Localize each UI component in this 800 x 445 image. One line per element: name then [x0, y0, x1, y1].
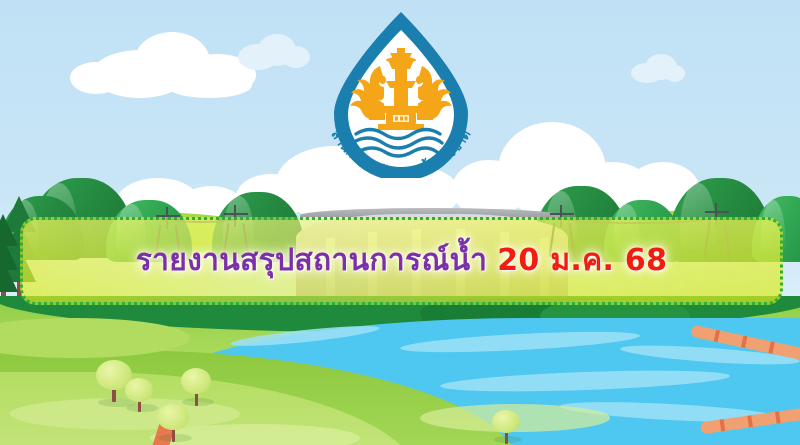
tree-small — [490, 410, 524, 444]
banner-title-th: รายงานสรุปสถานการณ์น้ำ — [136, 243, 488, 278]
cloud-upper-left-small — [228, 32, 312, 72]
tree-small — [178, 368, 216, 406]
banner-graphic: สำนักงานทรัพยากรน้ำแห่งชาติ รายงานสรุปสถ… — [0, 0, 800, 445]
banner-text-row: รายงานสรุปสถานการณ์น้ำ20 ม.ค. 68 — [136, 246, 668, 276]
tree-small — [154, 404, 194, 442]
cloud-upper-right-small — [623, 53, 687, 85]
banner-date-th: 20 ม.ค. 68 — [497, 243, 667, 278]
tree-small — [122, 378, 158, 412]
report-title-banner: รายงานสรุปสถานการณ์น้ำ20 ม.ค. 68 — [20, 217, 783, 305]
onwr-logo: สำนักงานทรัพยากรน้ำแห่งชาติ — [310, 8, 492, 178]
